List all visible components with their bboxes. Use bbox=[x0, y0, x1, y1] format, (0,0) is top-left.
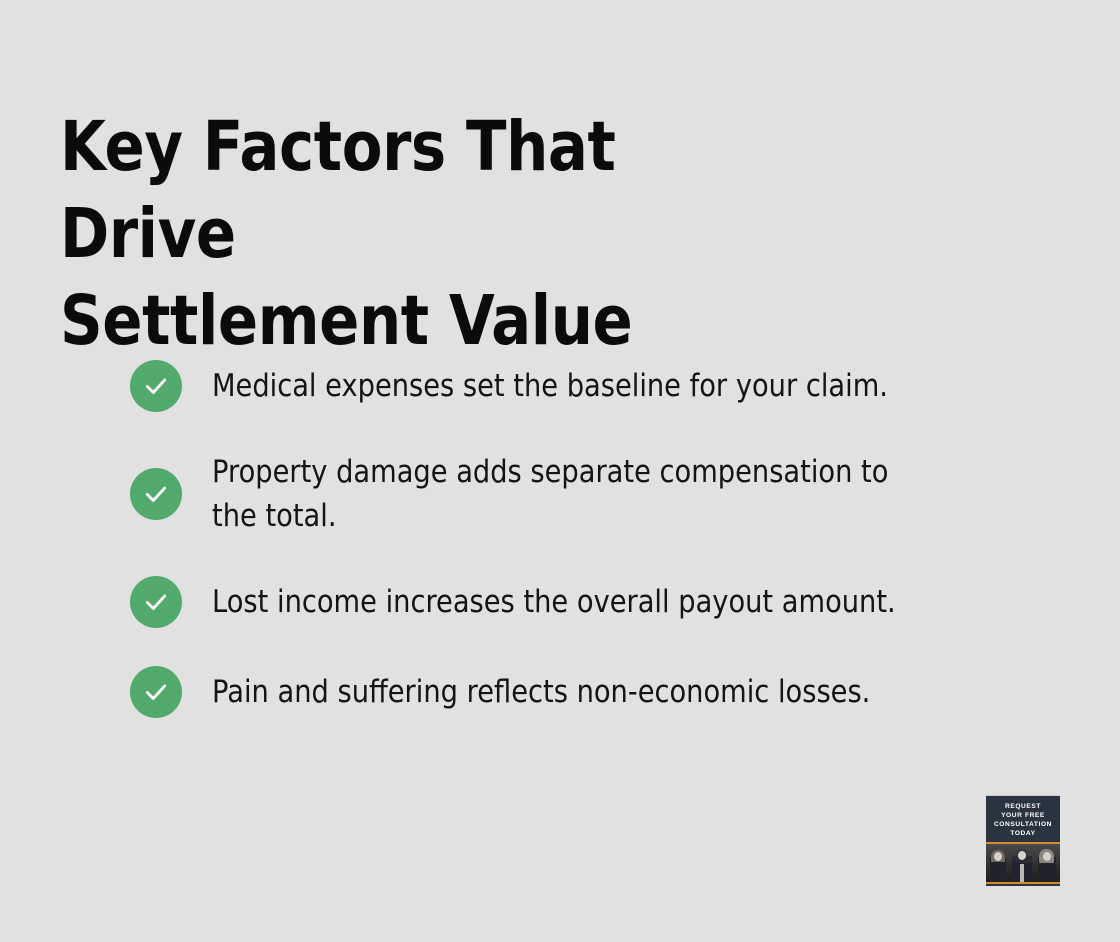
list-item: Pain and suffering reflects non-economic… bbox=[130, 666, 1030, 718]
list-item: Property damage adds separate compensati… bbox=[130, 450, 1030, 538]
check-circle-icon bbox=[130, 576, 182, 628]
list-item: Medical expenses set the baseline for yo… bbox=[130, 360, 1030, 412]
attorneys-photo bbox=[986, 844, 1060, 884]
check-circle-icon bbox=[130, 468, 182, 520]
cta-badge-text: Request Your Free Consultation Today bbox=[986, 796, 1060, 842]
list-item-label: Pain and suffering reflects non-economic… bbox=[212, 670, 932, 714]
cta-line-4: Today bbox=[990, 829, 1056, 838]
list-item-label: Lost income increases the overall payout… bbox=[212, 580, 932, 624]
list-item-label: Property damage adds separate compensati… bbox=[212, 450, 932, 538]
cta-bottom-rule bbox=[986, 882, 1060, 884]
slide-canvas: Key Factors That Drive Settlement Value … bbox=[0, 0, 1120, 942]
page-title: Key Factors That Drive Settlement Value bbox=[60, 104, 748, 365]
key-factors-list: Medical expenses set the baseline for yo… bbox=[130, 360, 1030, 718]
list-item: Lost income increases the overall payout… bbox=[130, 576, 1030, 628]
cta-line-3: Consultation bbox=[990, 820, 1056, 829]
request-free-consultation-badge[interactable]: Request Your Free Consultation Today bbox=[986, 795, 1060, 886]
check-circle-icon bbox=[130, 666, 182, 718]
cta-line-1: Request bbox=[990, 802, 1056, 811]
list-item-label: Medical expenses set the baseline for yo… bbox=[212, 364, 932, 408]
check-circle-icon bbox=[130, 360, 182, 412]
cta-line-2: Your Free bbox=[990, 811, 1056, 820]
